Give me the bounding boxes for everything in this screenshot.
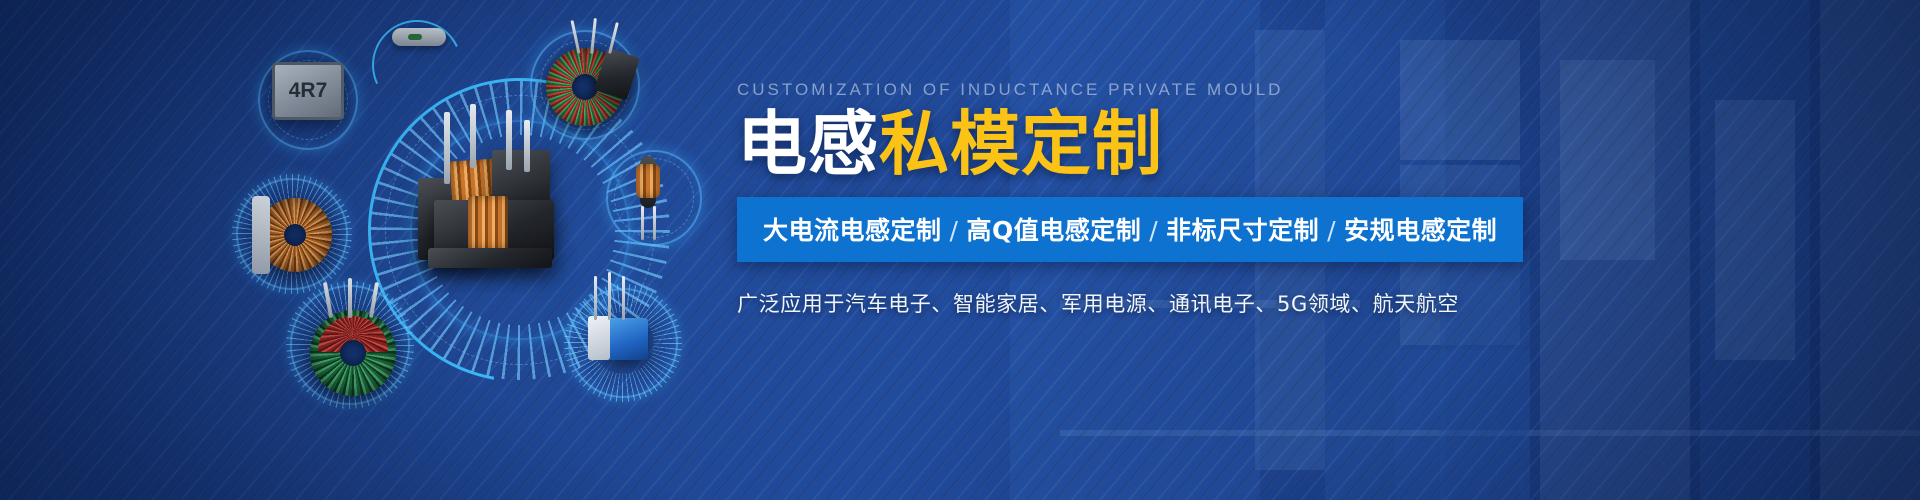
title-part-white: 电感 <box>737 103 879 185</box>
category-pill[interactable]: 大电流电感定制/高Q值电感定制/非标尺寸定制/安规电感定制 <box>737 197 1523 262</box>
promo-banner: 4R7 <box>0 0 1920 500</box>
category-item-2: 非标尺寸定制 <box>1166 216 1319 245</box>
title-part-gold: 私模定制 <box>879 103 1163 185</box>
category-separator-2: / <box>1319 216 1344 245</box>
category-item-0: 大电流电感定制 <box>763 216 942 245</box>
banner-title: 电感私模定制 <box>737 108 1857 181</box>
banner-eyebrow: CUSTOMIZATION OF INDUCTANCE PRIVATE MOUL… <box>737 80 1857 100</box>
banner-copy: CUSTOMIZATION OF INDUCTANCE PRIVATE MOUL… <box>737 80 1857 318</box>
category-item-3: 安规电感定制 <box>1344 216 1497 245</box>
category-item-1: 高Q值电感定制 <box>966 216 1141 245</box>
category-separator-0: / <box>942 216 967 245</box>
banner-description: 广泛应用于汽车电子、智能家居、军用电源、通讯电子、5G领域、航天航空 <box>737 288 1857 318</box>
category-separator-1: / <box>1141 216 1166 245</box>
